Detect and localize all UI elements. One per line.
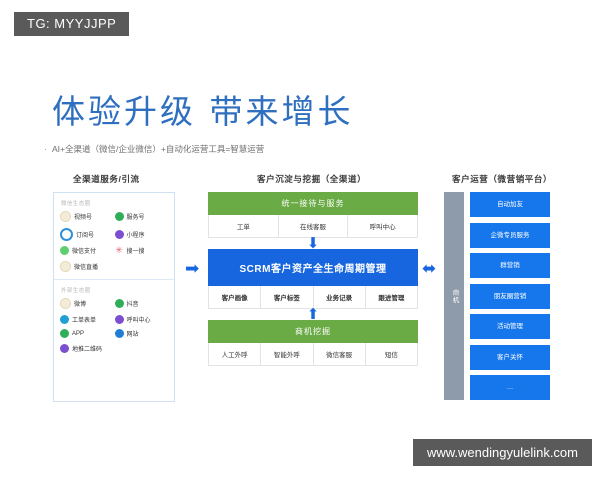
channel-item-video[interactable]: 视频号 [60, 211, 115, 222]
arrow-up-wrap: ⬆ [208, 309, 418, 320]
slide-title: 体验升级 带来增长 [52, 85, 354, 133]
scrm-group: SCRM客户资产全生命周期管理 客户画像 客户标签 业务记录 跟进管理 [208, 249, 418, 309]
scrm-title: SCRM客户资产全生命周期管理 [208, 249, 418, 286]
channel-item-app[interactable]: APP [60, 329, 115, 338]
website-icon [115, 329, 124, 338]
bullet-marker: · [44, 144, 47, 154]
channel-panel: 微信生态圈 视频号 服务号 订阅号 小程序 [53, 192, 175, 402]
scrm-cell[interactable]: 客户标签 [261, 286, 313, 308]
channel-label: 搜一搜 [127, 246, 145, 255]
search-icon: ✳ [115, 246, 124, 255]
weibo-icon [60, 298, 71, 309]
marketing-item-moments-marketing[interactable]: 朋友圈营销 [470, 284, 550, 309]
channel-label: 网站 [127, 329, 139, 338]
qr-code-icon [60, 344, 69, 353]
opportunity-cell[interactable]: 短信 [366, 343, 417, 365]
opportunity-group: 商机挖掘 人工外呼 智能外呼 微信客服 短信 [208, 320, 418, 366]
opportunity-cell[interactable]: 智能外呼 [261, 343, 313, 365]
telegram-handle-badge: TG: MYYJJPP [14, 12, 129, 36]
arrow-bidirectional-icon: ⬌ [422, 260, 436, 277]
channel-item-website[interactable]: 网站 [115, 329, 170, 338]
channel-item-qr-code[interactable]: 地推二维码 [60, 344, 169, 353]
reception-cell[interactable]: 在线客服 [279, 215, 349, 237]
channel-label: 工单表单 [72, 315, 96, 324]
service-account-icon [115, 212, 124, 221]
channel-label: 视频号 [74, 212, 92, 221]
app-icon [60, 329, 69, 338]
channel-item-service-account[interactable]: 服务号 [115, 211, 170, 222]
channel-label: 微信支付 [72, 246, 96, 255]
channel-item-ticket-form[interactable]: 工单表单 [60, 315, 115, 324]
column-header-right: 客户运营（微营销平台） [452, 173, 552, 185]
scrm-cell[interactable]: 跟进管理 [366, 286, 417, 308]
channel-label: 抖音 [127, 299, 139, 308]
arrow-up-icon: ⬆ [307, 308, 320, 321]
column-header-left: 全渠道服务/引流 [73, 173, 140, 185]
opportunity-cell[interactable]: 微信客服 [314, 343, 366, 365]
reception-cell[interactable]: 呼叫中心 [348, 215, 417, 237]
channel-label: 呼叫中心 [127, 315, 151, 324]
mini-program-icon [115, 230, 124, 239]
channel-label: APP [72, 331, 84, 337]
douyin-icon [115, 299, 124, 308]
channel-item-mini-program[interactable]: 小程序 [115, 228, 170, 241]
subscription-account-icon [60, 228, 73, 241]
video-channel-icon [60, 211, 71, 222]
wechat-ecosystem-group: 微信生态圈 视频号 服务号 订阅号 小程序 [54, 193, 174, 279]
marketing-item-auto-add-friend[interactable]: 自动加友 [470, 192, 550, 217]
wechat-pay-icon [60, 246, 69, 255]
marketing-platform-column: 自动加友 企微专员服务 群营销 朋友圈营销 活动管理 客户关怀 … [470, 192, 550, 400]
site-watermark: www.wendingyulelink.com [413, 439, 592, 466]
subtitle-text: AI+全渠道（微信/企业微信）+自动化运营工具=智慧运营 [52, 144, 264, 154]
channel-label: 地推二维码 [72, 344, 102, 353]
marketing-item-specialist-service[interactable]: 企微专员服务 [470, 223, 550, 248]
opportunity-bar-label: 商机 [449, 289, 459, 304]
channel-label: 小程序 [127, 230, 145, 239]
marketing-item-group-marketing[interactable]: 群营销 [470, 253, 550, 278]
marketing-item-more[interactable]: … [470, 375, 550, 400]
external-ecosystem-group: 外部生态圈 微博 抖音 工单表单 呼叫中心 [54, 279, 174, 360]
opportunity-title: 商机挖掘 [208, 320, 418, 343]
scrm-cell[interactable]: 业务记录 [314, 286, 366, 308]
reception-cell[interactable]: 工单 [209, 215, 279, 237]
reception-title: 统一接待与服务 [208, 192, 418, 215]
reception-group: 统一接待与服务 工单 在线客服 呼叫中心 [208, 192, 418, 238]
marketing-item-customer-care[interactable]: 客户关怀 [470, 345, 550, 370]
channel-item-search[interactable]: ✳ 搜一搜 [115, 246, 170, 255]
scrm-cell[interactable]: 客户画像 [209, 286, 261, 308]
channel-label: 服务号 [127, 212, 145, 221]
channel-item-call-center[interactable]: 呼叫中心 [115, 315, 170, 324]
channel-item-wechat-pay[interactable]: 微信支付 [60, 246, 115, 255]
opportunity-bar: 商机 [444, 192, 464, 400]
channel-item-douyin[interactable]: 抖音 [115, 298, 170, 309]
ticket-form-icon [60, 315, 69, 324]
channel-label: 微信直播 [74, 262, 98, 271]
channel-item-live[interactable]: 微信直播 [60, 261, 169, 272]
channel-label: 微博 [74, 299, 86, 308]
channel-label: 订阅号 [76, 230, 94, 239]
live-stream-icon [60, 261, 71, 272]
opportunity-cell[interactable]: 人工外呼 [209, 343, 261, 365]
column-header-middle: 客户沉淀与挖掘（全渠道） [257, 173, 366, 185]
call-center-icon [115, 315, 124, 324]
arrow-down-icon: ⬇ [307, 237, 320, 250]
architecture-diagram: 全渠道服务/引流 客户沉淀与挖掘（全渠道） 客户运营（微营销平台） 微信生态圈 … [0, 160, 600, 410]
arrow-down-wrap: ⬇ [208, 238, 418, 249]
wechat-ecosystem-label: 微信生态圈 [61, 199, 169, 207]
external-ecosystem-label: 外部生态圈 [61, 286, 169, 294]
arrow-right-icon: ➡ [185, 260, 199, 277]
opportunity-cells: 人工外呼 智能外呼 微信客服 短信 [208, 343, 418, 366]
slide-subtitle: ·AI+全渠道（微信/企业微信）+自动化运营工具=智慧运营 [44, 143, 264, 155]
channel-item-subscription[interactable]: 订阅号 [60, 228, 115, 241]
middle-column: 统一接待与服务 工单 在线客服 呼叫中心 ⬇ SCRM客户资产全生命周期管理 客… [208, 192, 418, 366]
marketing-item-campaign-management[interactable]: 活动管理 [470, 314, 550, 339]
channel-item-weibo[interactable]: 微博 [60, 298, 115, 309]
